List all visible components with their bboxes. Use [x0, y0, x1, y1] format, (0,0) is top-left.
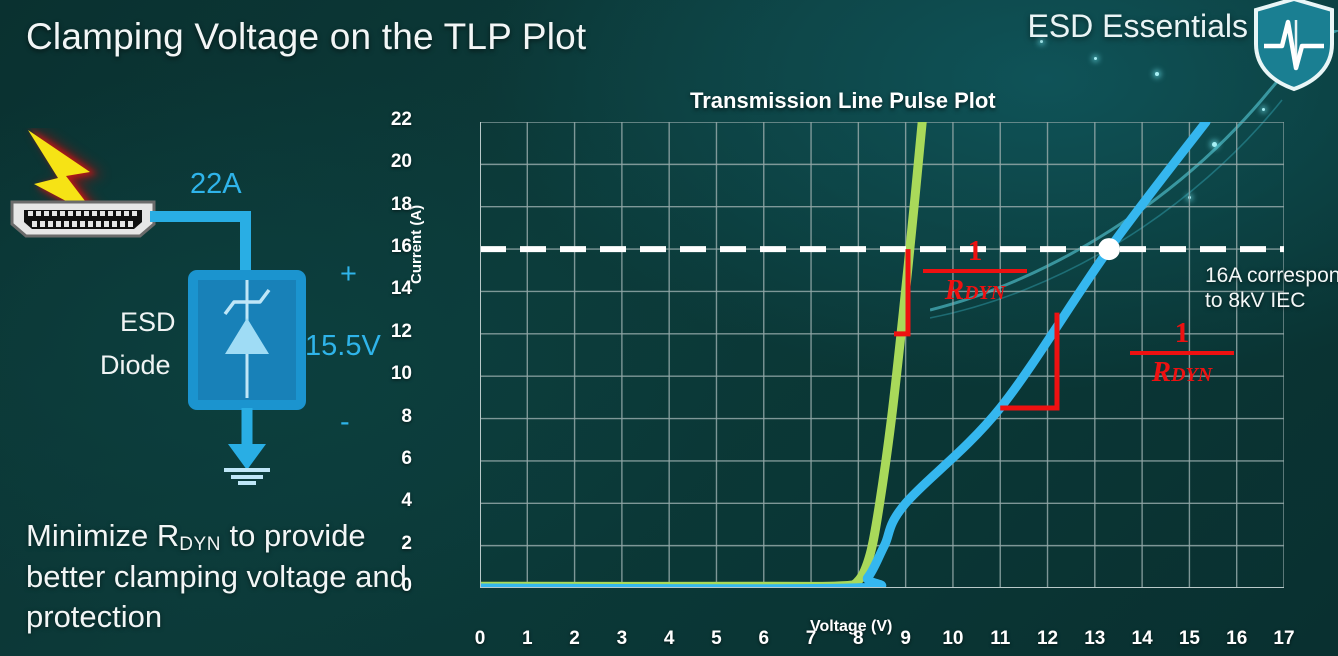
chart-series-line-1: [480, 122, 1206, 588]
chart-x-tick-label: 17: [1271, 628, 1297, 650]
chart-x-tick-label: 9: [893, 628, 919, 650]
chart-operating-point-marker: [1098, 238, 1120, 260]
chart-x-tick-label: 11: [987, 628, 1013, 650]
chart-y-tick-label: 4: [372, 490, 412, 512]
chart-x-tick-label: 16: [1224, 628, 1250, 650]
slide-canvas: Clamping Voltage on the TLP Plot ESD Ess…: [0, 0, 1338, 656]
clamping-voltage-label: 15.5V: [305, 330, 381, 363]
chart-plot-area: 16A corresponds to 8kV IEC 1 RDYN 1 RDYN…: [480, 122, 1284, 588]
chart-y-tick-label: 8: [372, 406, 412, 428]
slope-1-den-sub: DYN: [964, 282, 1005, 304]
chart-x-tick-label: 10: [940, 628, 966, 650]
ground-symbol-icon: [208, 408, 286, 486]
polarity-minus-label: -: [340, 406, 350, 439]
tlp-chart: Transmission Line Pulse Plot Current (A)…: [415, 88, 1338, 656]
chart-x-tick-label: 4: [656, 628, 682, 650]
operating-point-callout: 16A corresponds to 8kV IEC: [1205, 264, 1338, 314]
chart-series-line-0: [480, 122, 922, 586]
chart-y-tick-label: 14: [372, 278, 412, 300]
circuit-wire-vertical: [240, 211, 251, 273]
esd-diode-label-line2: Diode: [100, 350, 171, 381]
slope-2-den-sub: DYN: [1171, 364, 1212, 386]
summary-note-subscript: DYN: [179, 534, 221, 555]
slope-annotation-2-label: 1 RDYN: [1130, 319, 1234, 387]
chart-x-tick-label: 5: [703, 628, 729, 650]
current-label: 22A: [190, 168, 242, 201]
chart-y-tick-label: 18: [372, 194, 412, 216]
slope-annotation-1-label: 1 RDYN: [923, 237, 1027, 305]
callout-line-2: to 8kV IEC: [1205, 289, 1338, 314]
chart-y-tick-label: 20: [372, 151, 412, 173]
hdmi-connector-icon: [8, 196, 158, 242]
callout-line-1: 16A corresponds: [1205, 264, 1338, 289]
slope-1-denominator: RDYN: [923, 275, 1027, 305]
slope-1-fraction-bar: [923, 269, 1027, 273]
chart-x-tick-label: 3: [609, 628, 635, 650]
polarity-plus-label: +: [340, 258, 357, 291]
chart-y-tick-label: 12: [372, 321, 412, 343]
chart-y-tick-label: 2: [372, 533, 412, 555]
chart-title: Transmission Line Pulse Plot: [690, 88, 996, 114]
slope-2-fraction-bar: [1130, 351, 1234, 355]
chart-x-tick-label: 8: [845, 628, 871, 650]
slope-2-numerator: 1: [1130, 319, 1234, 348]
chart-x-tick-label: 0: [467, 628, 493, 650]
brand-title: ESD Essentials: [1027, 8, 1248, 45]
chart-x-tick-label: 14: [1129, 628, 1155, 650]
summary-note-part1: Minimize R: [26, 518, 179, 553]
esd-diode-label-line1: ESD: [120, 307, 176, 338]
slope-2-denominator: RDYN: [1130, 357, 1234, 387]
slope-1-den-main: R: [945, 274, 964, 306]
chart-x-tick-label: 15: [1176, 628, 1202, 650]
chart-x-tick-label: 2: [562, 628, 588, 650]
chart-x-tick-label: 6: [751, 628, 777, 650]
chart-x-tick-label: 12: [1035, 628, 1061, 650]
chart-x-tick-label: 13: [1082, 628, 1108, 650]
circuit-wire-horizontal: [150, 211, 250, 222]
chart-x-tick-label: 7: [798, 628, 824, 650]
chart-y-tick-label: 6: [372, 448, 412, 470]
summary-note: Minimize RDYN to provide better clamping…: [26, 516, 426, 637]
slope-2-den-main: R: [1152, 356, 1171, 388]
page-title: Clamping Voltage on the TLP Plot: [26, 16, 586, 58]
chart-y-tick-label: 16: [372, 236, 412, 258]
chart-y-tick-label: 10: [372, 363, 412, 385]
tvs-diode-icon: [198, 280, 296, 400]
slope-1-numerator: 1: [923, 237, 1027, 266]
shield-heartbeat-icon: [1252, 0, 1336, 92]
chart-y-tick-label: 22: [372, 109, 412, 131]
chart-x-tick-label: 1: [514, 628, 540, 650]
chart-y-tick-label: 0: [372, 575, 412, 597]
